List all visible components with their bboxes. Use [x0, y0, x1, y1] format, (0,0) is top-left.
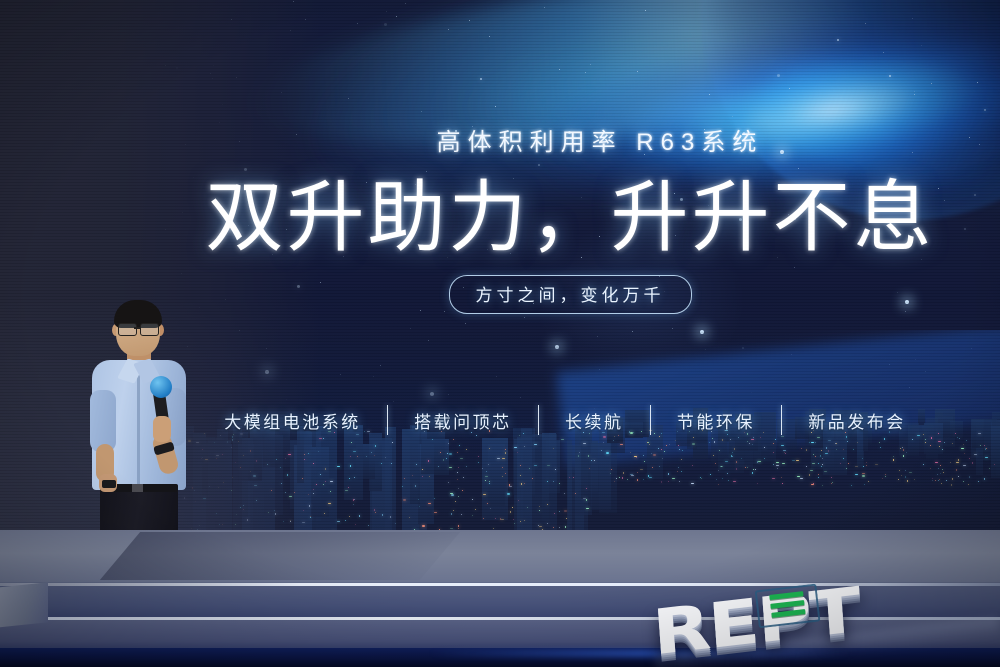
speaker-belt-buckle [132, 484, 143, 492]
stage-floor-shadow [100, 532, 460, 580]
eyeglasses-bridge-icon [134, 327, 141, 329]
feature-item: 大模组电池系统 [198, 408, 387, 433]
slide-subtitle: 高体积利用率 R63系统 [0, 122, 1000, 157]
speaker-sleeve-left [90, 390, 116, 452]
presentation-clicker-icon [102, 480, 116, 488]
feature-item: 新品发布会 [782, 408, 932, 433]
speaker-hand-right [153, 416, 171, 442]
stage-logo-mark-icon [755, 584, 818, 625]
slide-headline: 双升助力，升升不息 [0, 173, 1000, 261]
stage-photo: 高体积利用率 R63系统 双升助力，升升不息 方寸之间，变化万千 大模组电池系统… [0, 0, 1000, 667]
speaker-shirt-placket [137, 374, 140, 486]
eyeglasses-lens-left-icon [118, 323, 137, 336]
feature-item: 搭载问顶芯 [388, 408, 538, 433]
eyeglasses-lens-right-icon [140, 323, 159, 336]
slide-tagline-pill: 方寸之间，变化万千 [449, 275, 692, 314]
feature-item: 长续航 [539, 408, 650, 433]
microphone-head-icon [150, 376, 172, 398]
feature-item: 节能环保 [651, 408, 781, 433]
stage-riser-block [0, 582, 48, 627]
